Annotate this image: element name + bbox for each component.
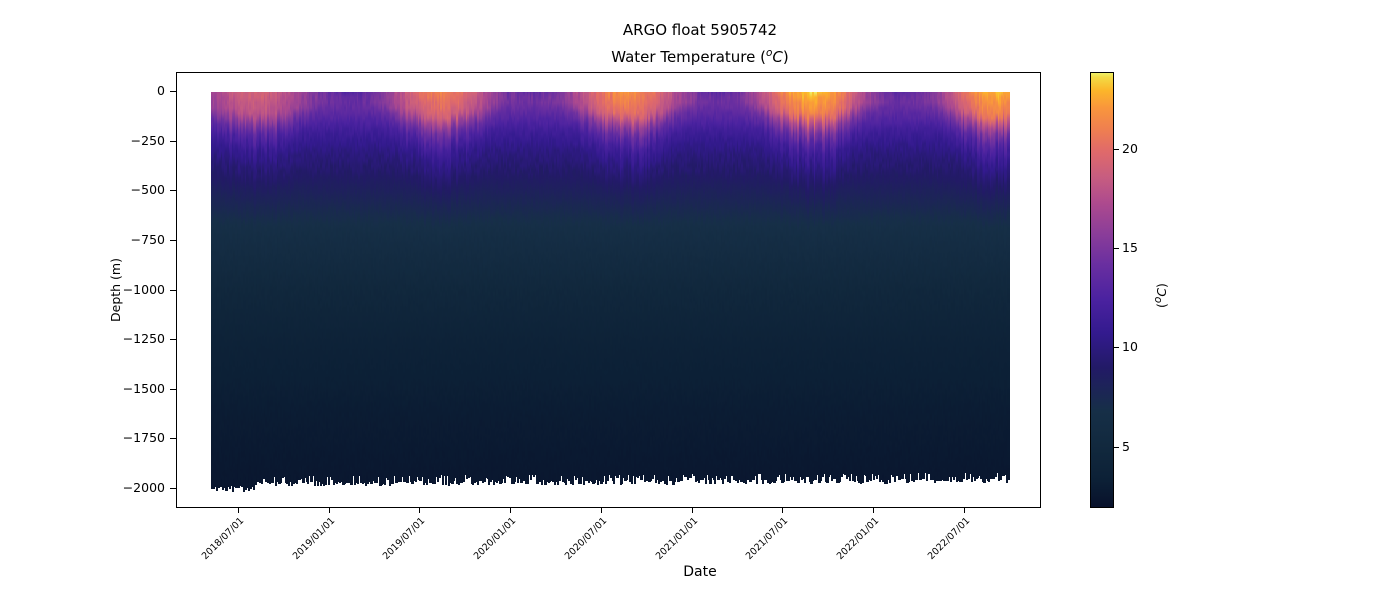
colorbar-tick-mark [1114,447,1119,448]
plot-clip-region [177,73,1040,507]
colorbar-tick-mark [1114,347,1119,348]
x-tick-label: 2019/07/01 [380,516,426,562]
colorbar-label: (oC) [1152,283,1169,308]
colorbar-tick-label: 10 [1122,339,1138,354]
figure-canvas: ARGO float 5905742 Water Temperature (oC… [0,0,1400,600]
y-tick-label: −750 [0,232,165,247]
x-tick-label: 2021/01/01 [654,516,700,562]
x-tick-mark [238,508,239,513]
figure-title: ARGO float 5905742 [0,21,1400,40]
y-axis-label: Depth (m) [108,258,123,322]
plot-axes [176,72,1041,508]
x-tick-mark [873,508,874,513]
colorbar-tick-label: 15 [1122,240,1138,255]
x-tick-mark [782,508,783,513]
x-tick-mark [964,508,965,513]
subtitle-unit: C [772,48,782,66]
y-tick-label: −250 [0,133,165,148]
y-tick-mark [170,488,176,489]
y-tick-mark [170,190,176,191]
y-tick-mark [170,389,176,390]
x-tick-label: 2021/07/01 [744,516,790,562]
x-tick-mark [329,508,330,513]
y-tick-label: −2000 [0,480,165,495]
cbar-degree-symbol: o [1152,297,1164,303]
y-tick-label: −1250 [0,331,165,346]
y-tick-mark [170,91,176,92]
y-tick-label: −1500 [0,381,165,396]
y-tick-mark [170,141,176,142]
x-tick-label: 2020/01/01 [471,516,517,562]
x-tick-mark [601,508,602,513]
y-tick-mark [170,290,176,291]
y-tick-mark [170,240,176,241]
cbar-label-suffix: ) [1154,283,1169,288]
x-tick-label: 2022/01/01 [835,516,881,562]
colorbar [1090,72,1114,508]
x-axis-label: Date [0,564,1400,580]
y-tick-mark [170,339,176,340]
x-tick-mark [510,508,511,513]
y-tick-label: −500 [0,182,165,197]
subtitle-prefix: Water Temperature ( [611,48,766,66]
temperature-heatmap-mesh [211,73,1009,507]
cbar-label-unit: C [1154,288,1169,297]
x-tick-label: 2018/07/01 [200,516,246,562]
x-tick-label: 2019/01/01 [291,516,337,562]
y-tick-label: −1000 [0,282,165,297]
colorbar-tick-label: 5 [1122,439,1130,454]
y-tick-label: 0 [0,83,165,98]
subtitle-suffix: ) [783,48,789,66]
colorbar-gradient [1091,73,1113,507]
x-tick-mark [419,508,420,513]
cbar-label-prefix: ( [1154,303,1169,308]
x-tick-label: 2020/07/01 [563,516,609,562]
y-tick-mark [170,438,176,439]
colorbar-tick-label: 20 [1122,141,1138,156]
profile-column [1007,92,1009,480]
x-tick-mark [692,508,693,513]
figure-subtitle: Water Temperature (oC) [0,44,1400,67]
x-tick-label: 2022/07/01 [926,516,972,562]
y-tick-label: −1750 [0,430,165,445]
colorbar-tick-mark [1114,149,1119,150]
colorbar-tick-mark [1114,248,1119,249]
